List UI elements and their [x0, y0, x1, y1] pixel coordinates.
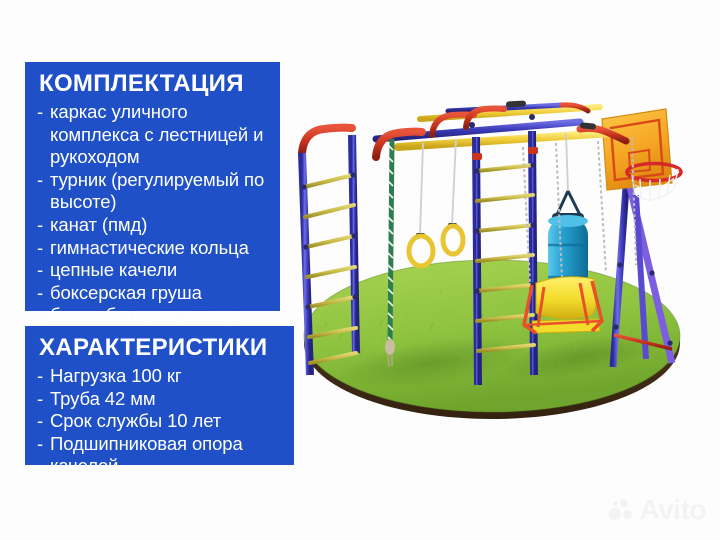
- playground-illustration: [280, 95, 720, 425]
- list-item: - Подшипниковая опора качелей: [37, 433, 284, 478]
- list-item: - баскетбольное кольцо: [37, 304, 270, 327]
- list-item-label: баскетбольное кольцо: [50, 304, 240, 325]
- bullet-dash: -: [37, 101, 43, 124]
- grass-disc: [304, 260, 680, 419]
- list-item-label: гимнастические кольца: [50, 237, 249, 258]
- list-item: - Срок службы 10 лет: [37, 410, 284, 433]
- bullet-dash: -: [37, 214, 43, 237]
- spec-panel: ХАРАКТЕРИСТИКИ - Нагрузка 100 кг - Труба…: [25, 326, 294, 465]
- list-item: - боксерская груша: [37, 282, 270, 305]
- list-item-label: турник (регулируемый по высоте): [50, 169, 264, 213]
- list-item-label: цепные качели: [50, 259, 177, 280]
- list-item: - каркас уличного комплекса с лестницей …: [37, 101, 270, 169]
- bullet-dash: -: [37, 304, 43, 327]
- bullet-dash: -: [37, 282, 43, 305]
- bullet-dash: -: [37, 388, 43, 411]
- kit-panel: КОМПЛЕКТАЦИЯ - каркас уличного комплекса…: [25, 62, 280, 311]
- bullet-dash: -: [37, 365, 43, 388]
- list-item: - турник (регулируемый по высоте): [37, 169, 270, 214]
- spec-panel-list: - Нагрузка 100 кг - Труба 42 мм - Срок с…: [37, 365, 284, 478]
- poster-canvas: КОМПЛЕКТАЦИЯ - каркас уличного комплекса…: [0, 0, 720, 540]
- bullet-dash: -: [37, 237, 43, 260]
- list-item: - гимнастические кольца: [37, 237, 270, 260]
- list-item: - цепные качели: [37, 259, 270, 282]
- list-item-label: Нагрузка 100 кг: [50, 365, 182, 386]
- kit-panel-title: КОМПЛЕКТАЦИЯ: [39, 70, 270, 97]
- kit-panel-list: - каркас уличного комплекса с лестницей …: [37, 101, 270, 327]
- list-item-label: каркас уличного комплекса с лестницей и …: [50, 101, 263, 167]
- list-item: - канат (пмд): [37, 214, 270, 237]
- list-item-label: Подшипниковая опора качелей: [50, 433, 243, 477]
- list-item-label: боксерская груша: [50, 282, 202, 303]
- bullet-dash: -: [37, 169, 43, 192]
- list-item-label: Срок службы 10 лет: [50, 410, 221, 431]
- bullet-dash: -: [37, 433, 43, 456]
- list-item: - Нагрузка 100 кг: [37, 365, 284, 388]
- gymnastic-rings: [409, 139, 463, 266]
- avito-watermark: Avito: [609, 496, 706, 524]
- list-item: - Труба 42 мм: [37, 388, 284, 411]
- bullet-dash: -: [37, 410, 43, 433]
- list-item-label: канат (пмд): [50, 214, 147, 235]
- spec-panel-title: ХАРАКТЕРИСТИКИ: [39, 334, 284, 361]
- bullet-dash: -: [37, 259, 43, 282]
- avito-dots-icon: [609, 499, 635, 521]
- avito-watermark-label: Avito: [640, 496, 706, 524]
- list-item-label: Труба 42 мм: [50, 388, 155, 409]
